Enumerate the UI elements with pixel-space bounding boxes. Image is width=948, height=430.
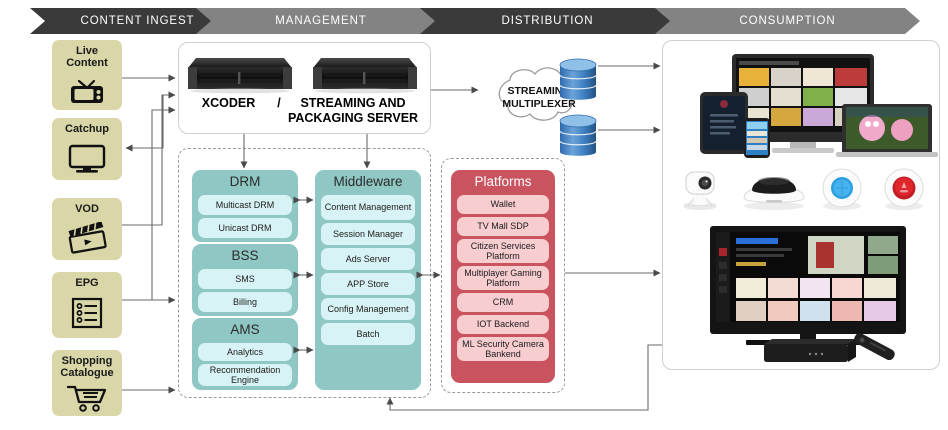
streaming-packaging-server-unit: [311, 52, 419, 94]
multi-device-screens-photo: [690, 48, 940, 160]
source-label-line2: Content: [66, 57, 108, 69]
group-title: Platforms: [457, 173, 549, 192]
group-middleware: Middleware Content Management Session Ma…: [315, 170, 421, 390]
group-platforms: Platforms Wallet TV Mall SDP Citizen Ser…: [451, 170, 555, 383]
group-title: Middleware: [321, 173, 415, 192]
source-label: VOD: [75, 203, 99, 215]
iot-device-panic-button: [878, 166, 930, 212]
item-ads-server[interactable]: Ads Server: [321, 248, 415, 270]
source-live-content[interactable]: Live Content: [52, 40, 122, 110]
source-label: Catchup: [65, 123, 109, 135]
monitor-icon: [65, 135, 109, 180]
item-sms[interactable]: SMS: [198, 269, 292, 289]
group-title: BSS: [198, 247, 292, 266]
item-wallet[interactable]: Wallet: [457, 195, 549, 214]
item-batch[interactable]: Batch: [321, 323, 415, 345]
diagram-canvas: CONTENT INGEST MANAGEMENT DISTRIBUTION C…: [0, 0, 948, 430]
iot-device-dome-sensor: [736, 168, 812, 212]
clapperboard-icon: [64, 215, 110, 260]
iot-device-ip-camera: [672, 165, 728, 211]
item-unicast-drm[interactable]: Unicast DRM: [198, 218, 292, 238]
group-title: DRM: [198, 173, 292, 192]
source-vod[interactable]: VOD: [52, 198, 122, 260]
item-analytics[interactable]: Analytics: [198, 343, 292, 361]
item-citizen-services-platform[interactable]: Citizen Services Platform: [457, 239, 549, 263]
source-label: Live Content: [66, 45, 108, 69]
database-cylinder-top: [556, 56, 600, 106]
server-label-line2: PACKAGING SERVER: [288, 111, 418, 125]
stage-banner-label: CONTENT INGEST: [81, 15, 195, 27]
group-title: AMS: [198, 321, 292, 340]
program-guide-icon: [68, 289, 106, 338]
television-icon: [67, 69, 107, 110]
stage-banner-label: DISTRIBUTION: [502, 15, 594, 27]
source-label-line1: Shopping: [62, 355, 113, 367]
item-billing[interactable]: Billing: [198, 292, 292, 312]
item-session-manager[interactable]: Session Manager: [321, 223, 415, 245]
item-recommendation-engine[interactable]: Recommendation Engine: [198, 364, 292, 386]
stage-banner-consumption: CONSUMPTION: [655, 8, 920, 34]
source-shopping-catalogue[interactable]: Shopping Catalogue: [52, 350, 122, 416]
stage-banner-label: MANAGEMENT: [275, 15, 366, 27]
group-bss: BSS SMS Billing: [192, 244, 298, 316]
item-content-management[interactable]: Content Management: [321, 195, 415, 220]
source-label: EPG: [75, 277, 98, 289]
source-epg[interactable]: EPG: [52, 272, 122, 338]
xcoder-label: XCODER: [186, 96, 271, 111]
source-label: Shopping Catalogue: [60, 355, 113, 379]
item-iot-backend[interactable]: IOT Backend: [457, 315, 549, 334]
item-crm[interactable]: CRM: [457, 293, 549, 312]
item-config-management[interactable]: Config Management: [321, 298, 415, 320]
shopping-cart-icon: [64, 379, 110, 416]
item-multicast-drm[interactable]: Multicast DRM: [198, 195, 292, 215]
group-ams: AMS Analytics Recommendation Engine: [192, 318, 298, 390]
television-with-settop-box-photo: [700, 222, 932, 364]
source-label-line1: Live: [76, 45, 98, 57]
item-tv-mall-sdp[interactable]: TV Mall SDP: [457, 217, 549, 236]
stage-banner-label: CONSUMPTION: [739, 15, 835, 27]
item-app-store[interactable]: APP Store: [321, 273, 415, 295]
group-drm: DRM Multicast DRM Unicast DRM: [192, 170, 298, 242]
source-label-line2: Catalogue: [60, 367, 113, 379]
server-label-line1: STREAMING AND: [300, 96, 405, 110]
stage-banner-management: MANAGEMENT: [196, 8, 446, 34]
streaming-packaging-server-label: STREAMING AND PACKAGING SERVER: [283, 96, 423, 126]
database-cylinder-bottom: [556, 112, 600, 162]
stage-banner-distribution: DISTRIBUTION: [420, 8, 675, 34]
xcoder-server-unit: [186, 52, 294, 94]
item-ml-security-camera-bankend[interactable]: ML Security Camera Bankend: [457, 337, 549, 361]
iot-device-motion-sensor: [816, 166, 868, 212]
source-catchup[interactable]: Catchup: [52, 118, 122, 180]
item-multiplayer-gaming-platform[interactable]: Multiplayer Gaming Platform: [457, 266, 549, 290]
